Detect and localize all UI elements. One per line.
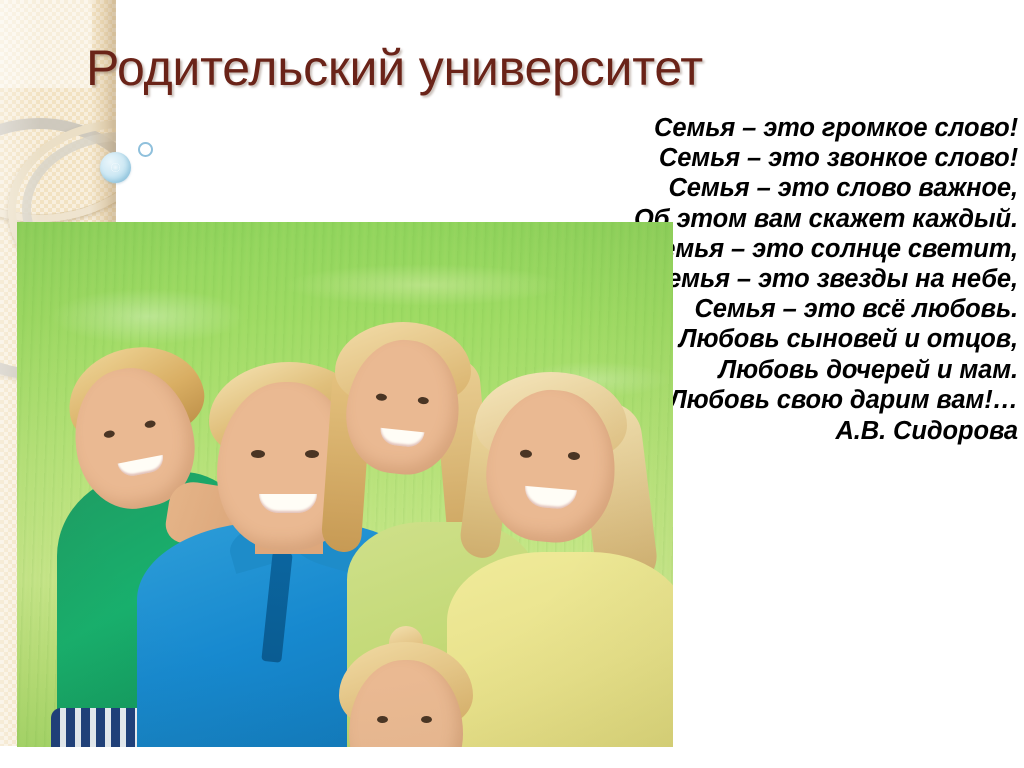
poem-line: Семья – это слово важное, bbox=[498, 173, 1018, 203]
mother-smile bbox=[523, 486, 577, 510]
family-photograph bbox=[17, 222, 673, 747]
boy-eye-left bbox=[103, 430, 115, 439]
family-group bbox=[17, 222, 673, 747]
father-smile bbox=[259, 494, 317, 513]
mother-eye-right bbox=[568, 451, 581, 460]
father-eye-right bbox=[305, 450, 319, 458]
poem-line: Семья – это громкое слово! bbox=[498, 113, 1018, 143]
little-girl-eye-right bbox=[421, 716, 432, 723]
mother-eye-left bbox=[520, 449, 533, 458]
little-girl-eye-left bbox=[377, 716, 388, 723]
mother-torso bbox=[447, 552, 673, 747]
older-girl-smile bbox=[379, 428, 424, 449]
large-bubble-icon bbox=[100, 152, 131, 183]
small-bubble-icon bbox=[138, 142, 153, 157]
boy-eye-right bbox=[144, 420, 156, 429]
poem-line: Семья – это звонкое слово! bbox=[498, 143, 1018, 173]
older-girl-eye-right bbox=[417, 397, 429, 405]
older-girl-eye-left bbox=[376, 393, 388, 401]
page-title: Родительский университет bbox=[86, 42, 986, 95]
boy-smile bbox=[118, 455, 166, 479]
presentation-slide: Родительский университет Семья – это гро… bbox=[0, 0, 1024, 768]
father-eye-left bbox=[251, 450, 265, 458]
